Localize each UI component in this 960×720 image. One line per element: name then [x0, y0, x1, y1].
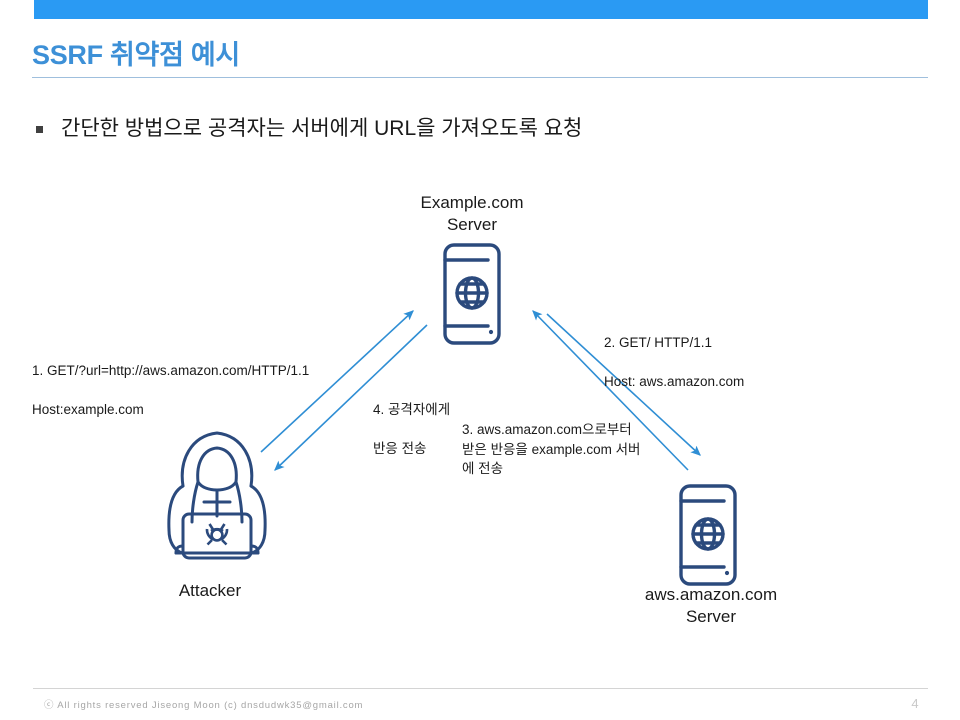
annotation-line1: 2. GET/ HTTP/1.1 — [604, 333, 744, 353]
annotation-line1: 4. 공격자에게 — [373, 400, 450, 420]
annotation-line2: Host: aws.amazon.com — [604, 372, 744, 392]
annotation-line1: 1. GET/?url=http://aws.amazon.com/HTTP/1… — [32, 361, 309, 381]
page-title: SSRF 취약점 예시 — [32, 33, 240, 72]
footer-divider — [33, 688, 928, 689]
header-accent-bar — [34, 0, 928, 19]
annotation-line2: 반응 전송 — [373, 439, 450, 459]
node-label-aws-server: aws.amazon.com Server — [600, 584, 822, 628]
annotation-line2: Host:example.com — [32, 400, 309, 420]
node-label-line1: aws.amazon.com — [600, 584, 822, 606]
annotation-step-4: 4. 공격자에게 반응 전송 — [373, 380, 450, 478]
aws-server-icon — [672, 484, 744, 586]
title-divider — [32, 77, 928, 78]
annotation-step-3: 3. aws.amazon.com으로부터 받은 반응을 example.com… — [462, 420, 644, 479]
slide-canvas: SSRF 취약점 예시 간단한 방법으로 공격자는 서버에게 URL을 가져오도… — [0, 0, 960, 720]
example-server-icon — [436, 243, 508, 345]
biohazard-icon — [207, 524, 227, 545]
node-label-line2: Server — [372, 214, 572, 236]
attacker-icon — [158, 420, 276, 568]
annotation-line1: 3. aws.amazon.com으로부터 받은 반응을 example.com… — [462, 420, 644, 479]
node-label-line1: Attacker — [120, 580, 300, 602]
node-label-line1: Example.com — [372, 192, 572, 214]
bullet-item: 간단한 방법으로 공격자는 서버에게 URL을 가져오도록 요청 — [36, 116, 582, 141]
page-number: 4 — [905, 696, 925, 711]
square-bullet-icon — [36, 126, 43, 133]
node-label-attacker: Attacker — [120, 580, 300, 602]
footer-copyright: ⓒ All rights reserved Jiseong Moon (c) d… — [44, 697, 363, 711]
node-label-example-server: Example.com Server — [372, 192, 572, 236]
annotation-step-1: 1. GET/?url=http://aws.amazon.com/HTTP/1… — [32, 341, 309, 439]
node-label-line2: Server — [600, 606, 822, 628]
bullet-text: 간단한 방법으로 공격자는 서버에게 URL을 가져오도록 요청 — [61, 116, 582, 141]
annotation-step-2: 2. GET/ HTTP/1.1 Host: aws.amazon.com — [604, 313, 744, 411]
